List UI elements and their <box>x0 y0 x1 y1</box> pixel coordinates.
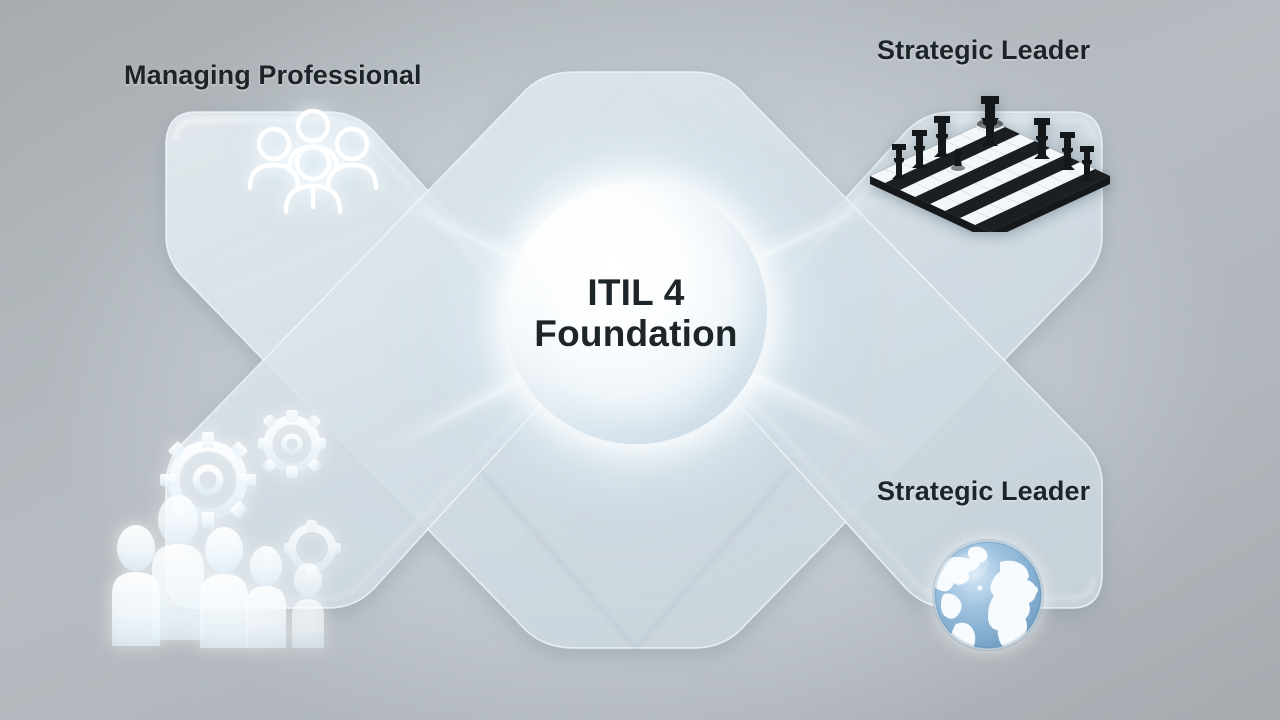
people-group-outline-icon <box>238 108 388 218</box>
quadrant-label-managing-professional: Managing Professional <box>124 60 422 91</box>
core-label-line1: ITIL 4 <box>587 272 684 313</box>
core-label: ITIL 4 Foundation <box>534 272 737 355</box>
chessboard-icon <box>862 72 1118 232</box>
itil-certification-scheme-graphic: ITIL 4 Foundation Managing Professional <box>0 0 1280 720</box>
core-label-line2: Foundation <box>534 313 737 354</box>
quadrant-label-strategic-leader-bottom: Strategic Leader <box>877 476 1090 507</box>
quadrant-label-strategic-leader-top: Strategic Leader <box>877 35 1090 66</box>
crowd-and-gears-icon <box>112 398 380 650</box>
core-sphere: ITIL 4 Foundation <box>505 182 767 444</box>
globe-icon <box>922 532 1054 658</box>
